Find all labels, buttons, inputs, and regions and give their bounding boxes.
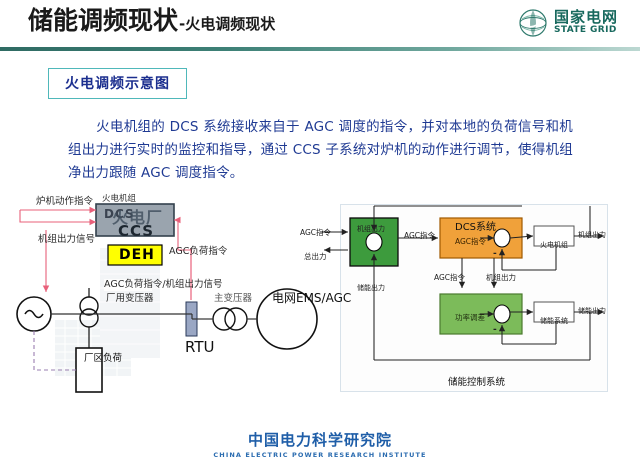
label-storage-system-block: 储能系统 xyxy=(540,316,568,326)
label-power-regulation-block: 功率调差 xyxy=(455,312,485,323)
page-title: 储能调频现状 -火电调频现状 xyxy=(28,8,275,33)
slide-footer: 中国电力科学研究院 CHINA ELECTRIC POWER RESEARCH … xyxy=(0,429,640,459)
label-in-total-output: 总出力 xyxy=(304,251,327,262)
paragraph-text: 火电机组的 DCS 系统接收来自于 AGC 调度的指令，并对本地的负荷信号和机组… xyxy=(68,119,573,181)
brand-logo: 国家电网 STATE GRID xyxy=(518,8,618,38)
label-plant-load: 厂区负荷 xyxy=(84,354,97,365)
label-station-transformer: 厂用变压器 xyxy=(106,294,119,305)
label-storage-control-system: 储能控制系统 xyxy=(448,374,505,388)
brand-name-en: STATE GRID xyxy=(554,26,618,35)
main-transformer-symbol xyxy=(213,308,247,330)
label-agc-command-to-dcs: AGC指令 xyxy=(404,230,435,241)
label-grid-ems: 电网EMS/AGC xyxy=(272,291,304,305)
label-storage-output-bottom: 储能出力 xyxy=(357,283,385,293)
label-boiler-command: 炉机动作指令 xyxy=(36,196,86,208)
label-in-agc-command: AGC指令 xyxy=(300,227,331,238)
label-plant-caption: 火电机组 xyxy=(102,192,136,204)
label-main-transformer: 主变压器 xyxy=(214,293,248,305)
generator-symbol xyxy=(17,297,51,331)
label-agc-load-command: AGC负荷指令 xyxy=(169,246,209,258)
brand-name-cn: 国家电网 xyxy=(554,10,618,26)
agc-sum-node xyxy=(494,229,510,247)
label-unit-output-signal: 机组出力信号 xyxy=(38,234,88,246)
state-grid-globe-icon xyxy=(518,8,548,38)
label-deh: DEH xyxy=(119,247,155,263)
label-agc-load-and-unit-output: AGC负荷指令/机组出力信号 xyxy=(104,279,152,291)
slide-header: 储能调频现状 -火电调频现状 国家电网 STATE GRID xyxy=(0,0,640,52)
body-paragraph: 火电机组的 DCS 系统接收来自于 AGC 调度的指令，并对本地的负荷信号和机组… xyxy=(68,116,573,186)
label-agc-command-down: AGC指令 xyxy=(434,272,465,283)
title-main: 储能调频现状 xyxy=(28,8,178,33)
label-sum-symbol: + xyxy=(368,235,377,248)
label-unit-output-down: 机组出力 xyxy=(486,272,516,283)
label-unit-output-top: 机组出力 xyxy=(357,224,385,234)
footer-institute-en: CHINA ELECTRIC POWER RESEARCH INSTITUTE xyxy=(0,451,640,459)
label-thermal-unit-block: 火电机组 xyxy=(540,240,568,250)
power-sum-node xyxy=(494,305,510,323)
label-minus-top: - xyxy=(493,249,497,259)
footer-institute-cn: 中国电力科学研究院 xyxy=(0,429,640,450)
label-out-unit-output: 机组出力 xyxy=(578,230,606,240)
label-agc-block: AGC指令 xyxy=(455,236,486,247)
header-divider xyxy=(0,47,640,51)
section-title-box: 火电调频示意图 xyxy=(48,68,187,99)
label-dcs-system-title: DCS系统 xyxy=(455,218,496,233)
label-out-storage-output: 储能出力 xyxy=(578,306,606,316)
label-ccs: CCS xyxy=(118,222,154,240)
label-minus-bottom: - xyxy=(493,325,497,335)
title-subtitle: -火电调频现状 xyxy=(179,17,275,32)
label-rtu: RTU xyxy=(185,340,201,356)
brand-logo-text: 国家电网 STATE GRID xyxy=(554,10,618,35)
